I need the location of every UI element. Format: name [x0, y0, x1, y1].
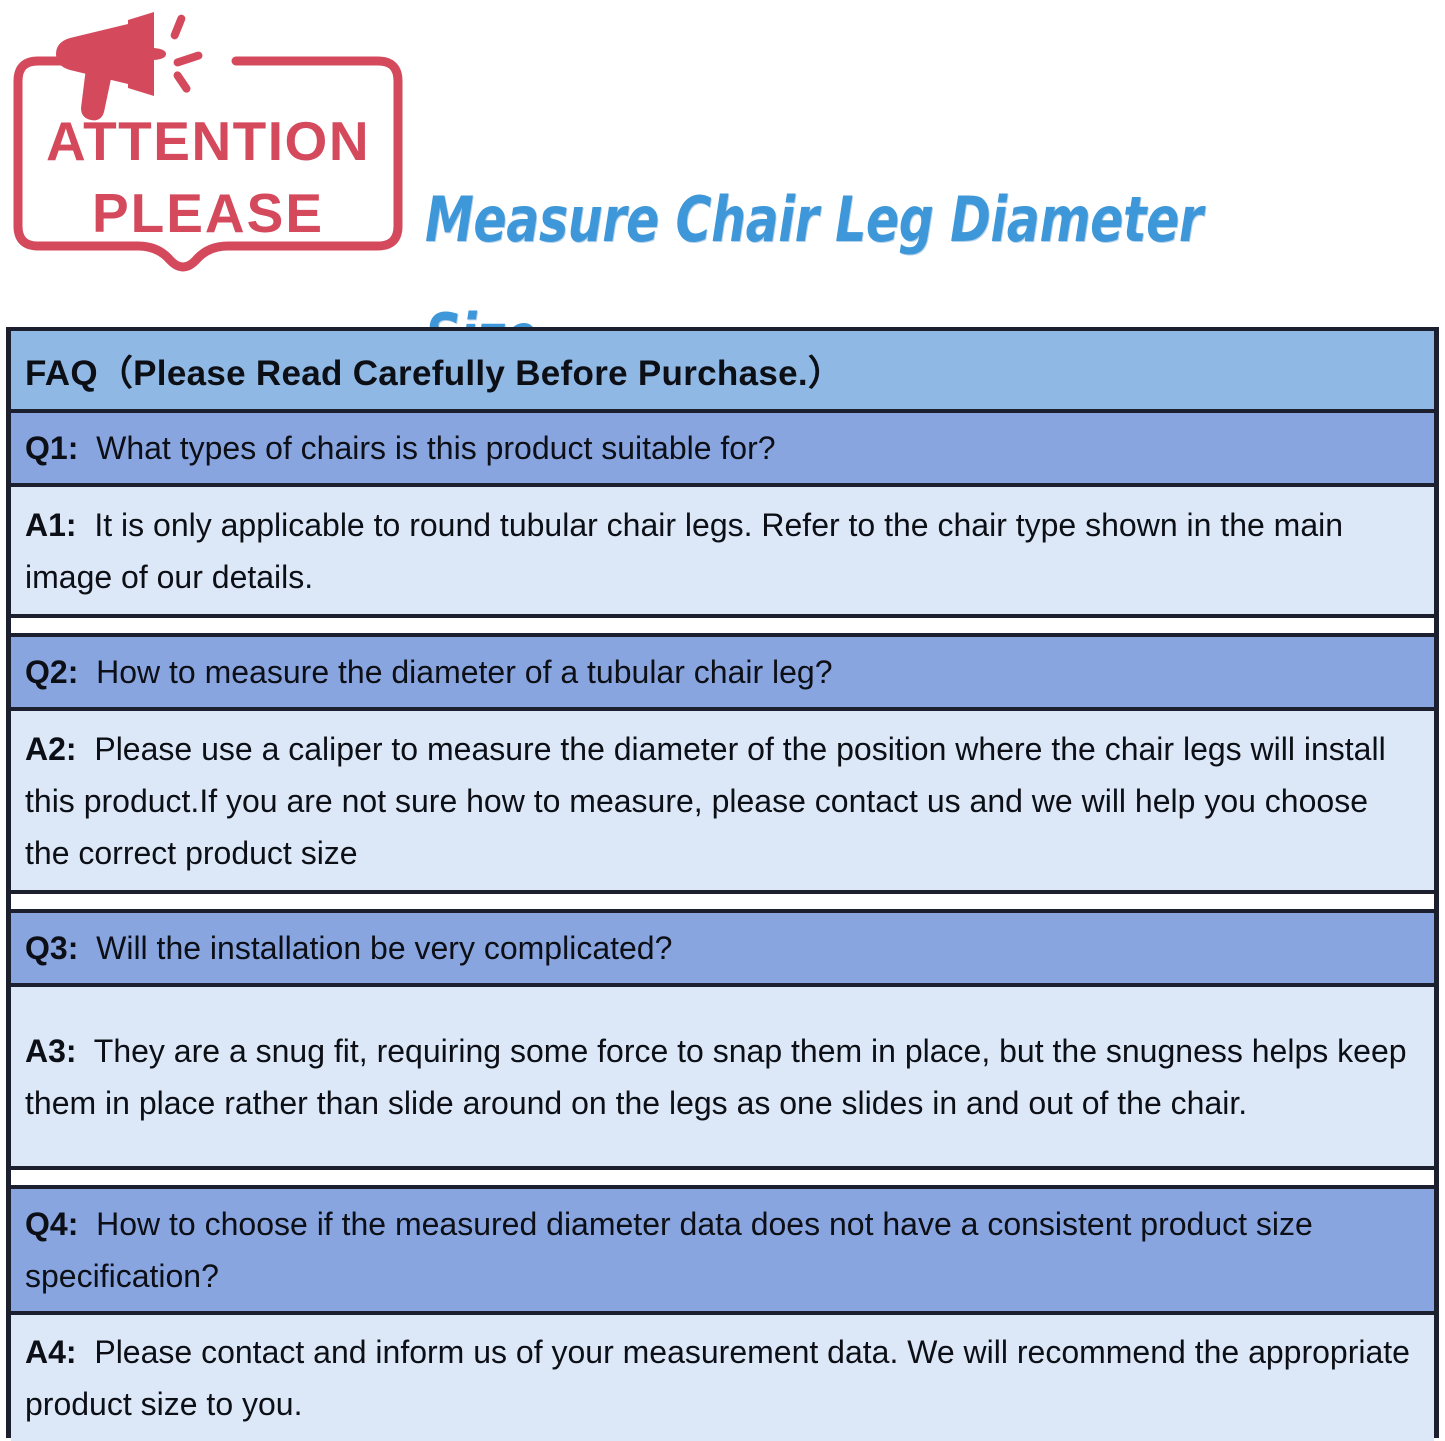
- faq-answer-4-text: A4: Please contact and inform us of your…: [25, 1318, 1420, 1438]
- faq-question-4-body: How to choose if the measured diameter d…: [25, 1206, 1313, 1294]
- faq-answer-3-label: A3:: [25, 1033, 77, 1069]
- faq-answer-3-text: A3: They are a snug fit, requiring some …: [25, 1017, 1420, 1137]
- faq-question-1-label: Q1:: [25, 430, 78, 466]
- faq-spacer-2: [11, 894, 1434, 913]
- faq-answer-1: A1: It is only applicable to round tubul…: [11, 487, 1434, 618]
- faq-answer-4: A4: Please contact and inform us of your…: [11, 1315, 1434, 1441]
- badge-line1: ATTENTION: [46, 110, 370, 172]
- faq-answer-4-label: A4:: [25, 1334, 77, 1370]
- attention-badge-graphic: ATTENTION PLEASE: [8, 8, 408, 280]
- faq-question-2-body: How to measure the diameter of a tubular…: [96, 654, 832, 690]
- faq-answer-2: A2: Please use a caliper to measure the …: [11, 711, 1434, 894]
- attention-please-badge: ATTENTION PLEASE: [8, 8, 408, 280]
- faq-question-4-text: Q4: How to choose if the measured diamet…: [25, 1190, 1420, 1310]
- faq-question-1-text: Q1: What types of chairs is this product…: [25, 414, 1420, 482]
- badge-line2: PLEASE: [92, 182, 324, 244]
- faq-table: FAQ（Please Read Carefully Before Purchas…: [6, 327, 1439, 1438]
- faq-answer-1-label: A1:: [25, 507, 77, 543]
- faq-question-1[interactable]: Q1: What types of chairs is this product…: [11, 413, 1434, 487]
- faq-spacer-1: [11, 618, 1434, 637]
- faq-question-2-label: Q2:: [25, 654, 78, 690]
- faq-question-3-label: Q3:: [25, 930, 78, 966]
- faq-question-3[interactable]: Q3: Will the installation be very compli…: [11, 913, 1434, 987]
- faq-answer-1-body: It is only applicable to round tubular c…: [25, 507, 1343, 595]
- faq-heading: FAQ（Please Read Carefully Before Purchas…: [11, 331, 1434, 413]
- faq-question-3-text: Q3: Will the installation be very compli…: [25, 914, 1420, 982]
- faq-question-2[interactable]: Q2: How to measure the diameter of a tub…: [11, 637, 1434, 711]
- megaphone-icon: [56, 12, 204, 120]
- faq-answer-1-text: A1: It is only applicable to round tubul…: [25, 491, 1420, 611]
- faq-question-2-text: Q2: How to measure the diameter of a tub…: [25, 638, 1420, 706]
- faq-question-3-body: Will the installation be very complicate…: [96, 930, 672, 966]
- header-banner: ATTENTION PLEASE Measure Chair Leg Diame…: [0, 0, 1445, 300]
- faq-answer-2-label: A2:: [25, 731, 77, 767]
- faq-question-4[interactable]: Q4: How to choose if the measured diamet…: [11, 1189, 1434, 1315]
- faq-answer-4-body: Please contact and inform us of your mea…: [25, 1334, 1410, 1422]
- faq-answer-3: A3: They are a snug fit, requiring some …: [11, 987, 1434, 1170]
- faq-question-1-body: What types of chairs is this product sui…: [96, 430, 775, 466]
- faq-answer-3-body: They are a snug fit, requiring some forc…: [25, 1033, 1407, 1121]
- faq-answer-2-text: A2: Please use a caliper to measure the …: [25, 715, 1420, 887]
- faq-spacer-3: [11, 1170, 1434, 1189]
- faq-question-4-label: Q4:: [25, 1206, 78, 1242]
- faq-answer-2-body: Please use a caliper to measure the diam…: [25, 731, 1386, 871]
